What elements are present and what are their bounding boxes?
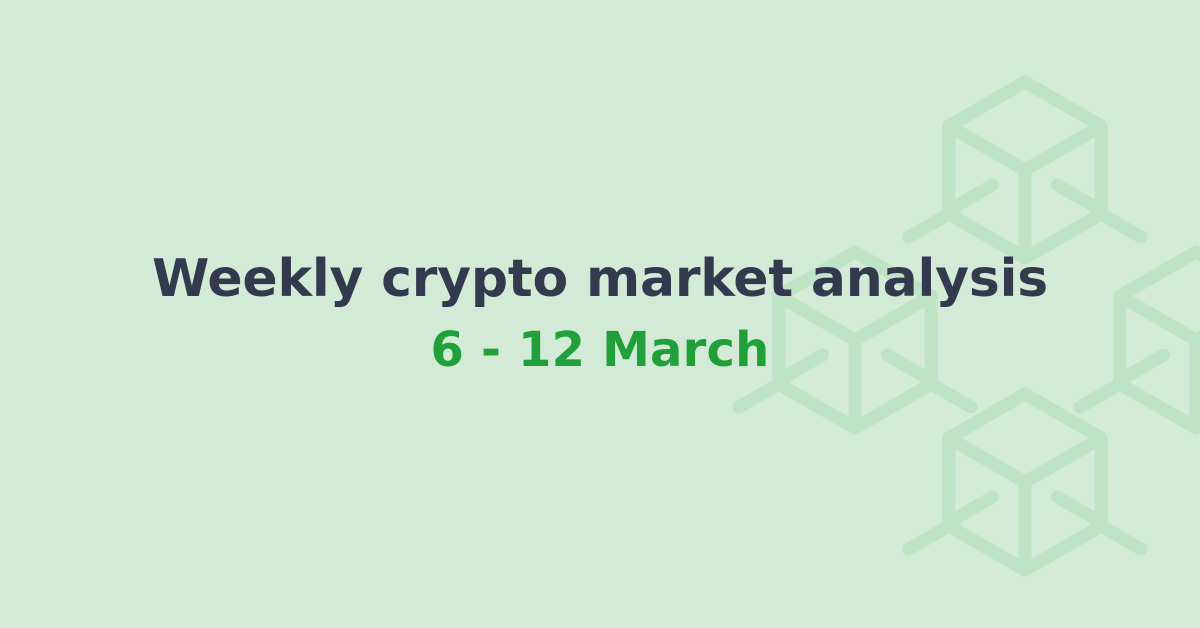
banner-canvas: Weekly crypto market analysis 6 - 12 Mar… — [0, 0, 1200, 628]
date-range-subtitle: 6 - 12 March — [430, 325, 769, 376]
page-title: Weekly crypto market analysis — [152, 252, 1048, 307]
headline-block: Weekly crypto market analysis 6 - 12 Mar… — [0, 0, 1200, 628]
